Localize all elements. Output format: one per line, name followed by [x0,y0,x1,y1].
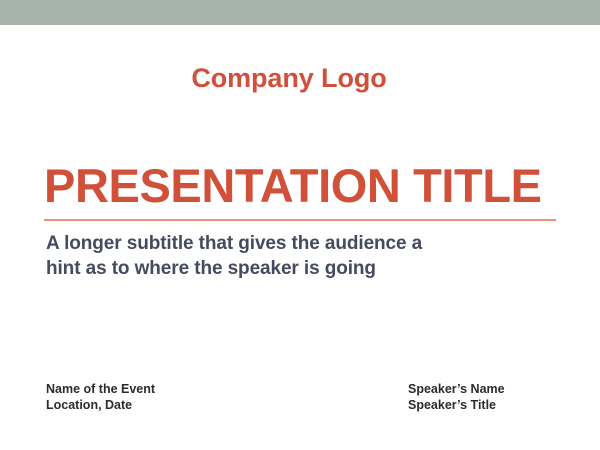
event-info-block[interactable]: Name of the Event Location, Date [46,381,155,413]
presentation-subtitle[interactable]: A longer subtitle that gives the audienc… [46,232,516,281]
presentation-title[interactable]: PRESENTATION TITLE [44,160,574,212]
top-decorative-band [0,0,600,25]
event-location-date: Location, Date [46,397,155,413]
subtitle-line-1: A longer subtitle that gives the audienc… [46,232,516,257]
title-divider-rule [44,219,556,221]
speaker-title: Speaker’s Title [408,397,505,413]
event-name: Name of the Event [46,381,155,397]
company-logo-placeholder[interactable]: Company Logo [0,62,578,94]
subtitle-line-2: hint as to where the speaker is going [46,257,516,282]
speaker-info-block[interactable]: Speaker’s Name Speaker’s Title [408,381,505,413]
presentation-slide: Company Logo PRESENTATION TITLE A longer… [0,0,600,450]
speaker-name: Speaker’s Name [408,381,505,397]
